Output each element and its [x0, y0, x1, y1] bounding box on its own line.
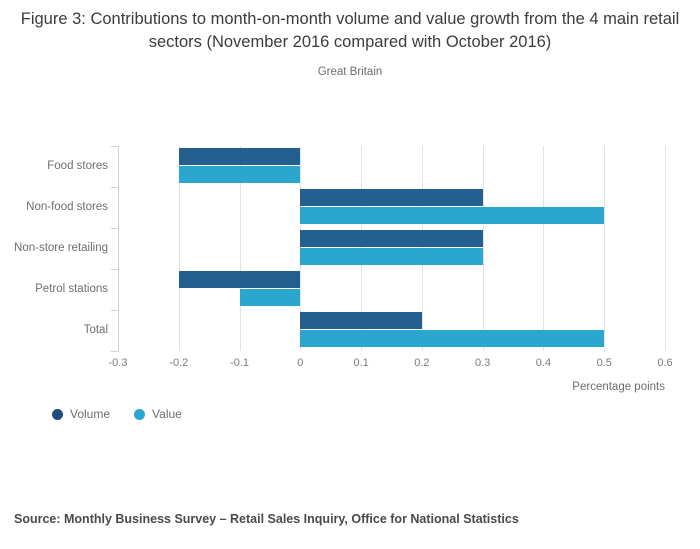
chart-category-row: Petrol stations — [118, 269, 665, 310]
legend-swatch-volume-icon — [52, 409, 63, 420]
bar-value[interactable] — [300, 248, 482, 265]
legend-item-volume[interactable]: Volume — [52, 407, 110, 421]
y-axis-tick — [111, 228, 118, 229]
bar-volume[interactable] — [300, 230, 482, 247]
chart-category-row: Total — [118, 310, 665, 351]
x-tick-label: 0.5 — [579, 357, 629, 369]
y-axis-category-label: Non-store retailing — [8, 228, 108, 269]
x-tick-label: 0.6 — [640, 357, 690, 369]
bar-volume[interactable] — [179, 148, 301, 165]
y-axis-category-label: Total — [8, 310, 108, 351]
x-tick-label: -0.3 — [93, 357, 143, 369]
y-axis-tick — [111, 351, 118, 352]
y-axis-category-label: Food stores — [8, 146, 108, 187]
x-tick-label: 0.3 — [458, 357, 508, 369]
x-tick-label: -0.2 — [154, 357, 204, 369]
y-axis-tick — [111, 269, 118, 270]
bar-value[interactable] — [240, 289, 301, 306]
bar-value[interactable] — [179, 166, 301, 183]
source-note: Source: Monthly Business Survey – Retail… — [14, 512, 519, 526]
bar-value[interactable] — [300, 330, 604, 347]
x-tick-label: 0.1 — [336, 357, 386, 369]
y-axis-tick — [111, 187, 118, 188]
bar-value[interactable] — [300, 207, 604, 224]
chart-category-row: Non-store retailing — [118, 228, 665, 269]
plot-area: Food storesNon-food storesNon-store reta… — [118, 146, 665, 351]
x-axis-title: Percentage points — [0, 381, 665, 393]
y-axis-tick — [111, 146, 118, 147]
x-tick-label: 0.4 — [518, 357, 568, 369]
chart-category-row: Food stores — [118, 146, 665, 187]
bar-volume[interactable] — [300, 312, 422, 329]
y-axis-tick — [111, 310, 118, 311]
chart-legend: Volume Value — [52, 407, 182, 421]
x-tick-label: -0.1 — [215, 357, 265, 369]
legend-item-value[interactable]: Value — [134, 407, 182, 421]
legend-swatch-value-icon — [134, 409, 145, 420]
legend-label-volume: Volume — [70, 407, 110, 421]
y-axis-category-label: Non-food stores — [8, 187, 108, 228]
bar-volume[interactable] — [300, 189, 482, 206]
x-tick-label: 0.2 — [397, 357, 447, 369]
bar-volume[interactable] — [179, 271, 301, 288]
chart-plot-wrapper: Food storesNon-food storesNon-store reta… — [0, 0, 700, 549]
legend-label-value: Value — [152, 407, 182, 421]
x-tick-label: 0 — [275, 357, 325, 369]
gridline-x — [665, 146, 666, 351]
chart-category-row: Non-food stores — [118, 187, 665, 228]
y-axis-category-label: Petrol stations — [8, 269, 108, 310]
